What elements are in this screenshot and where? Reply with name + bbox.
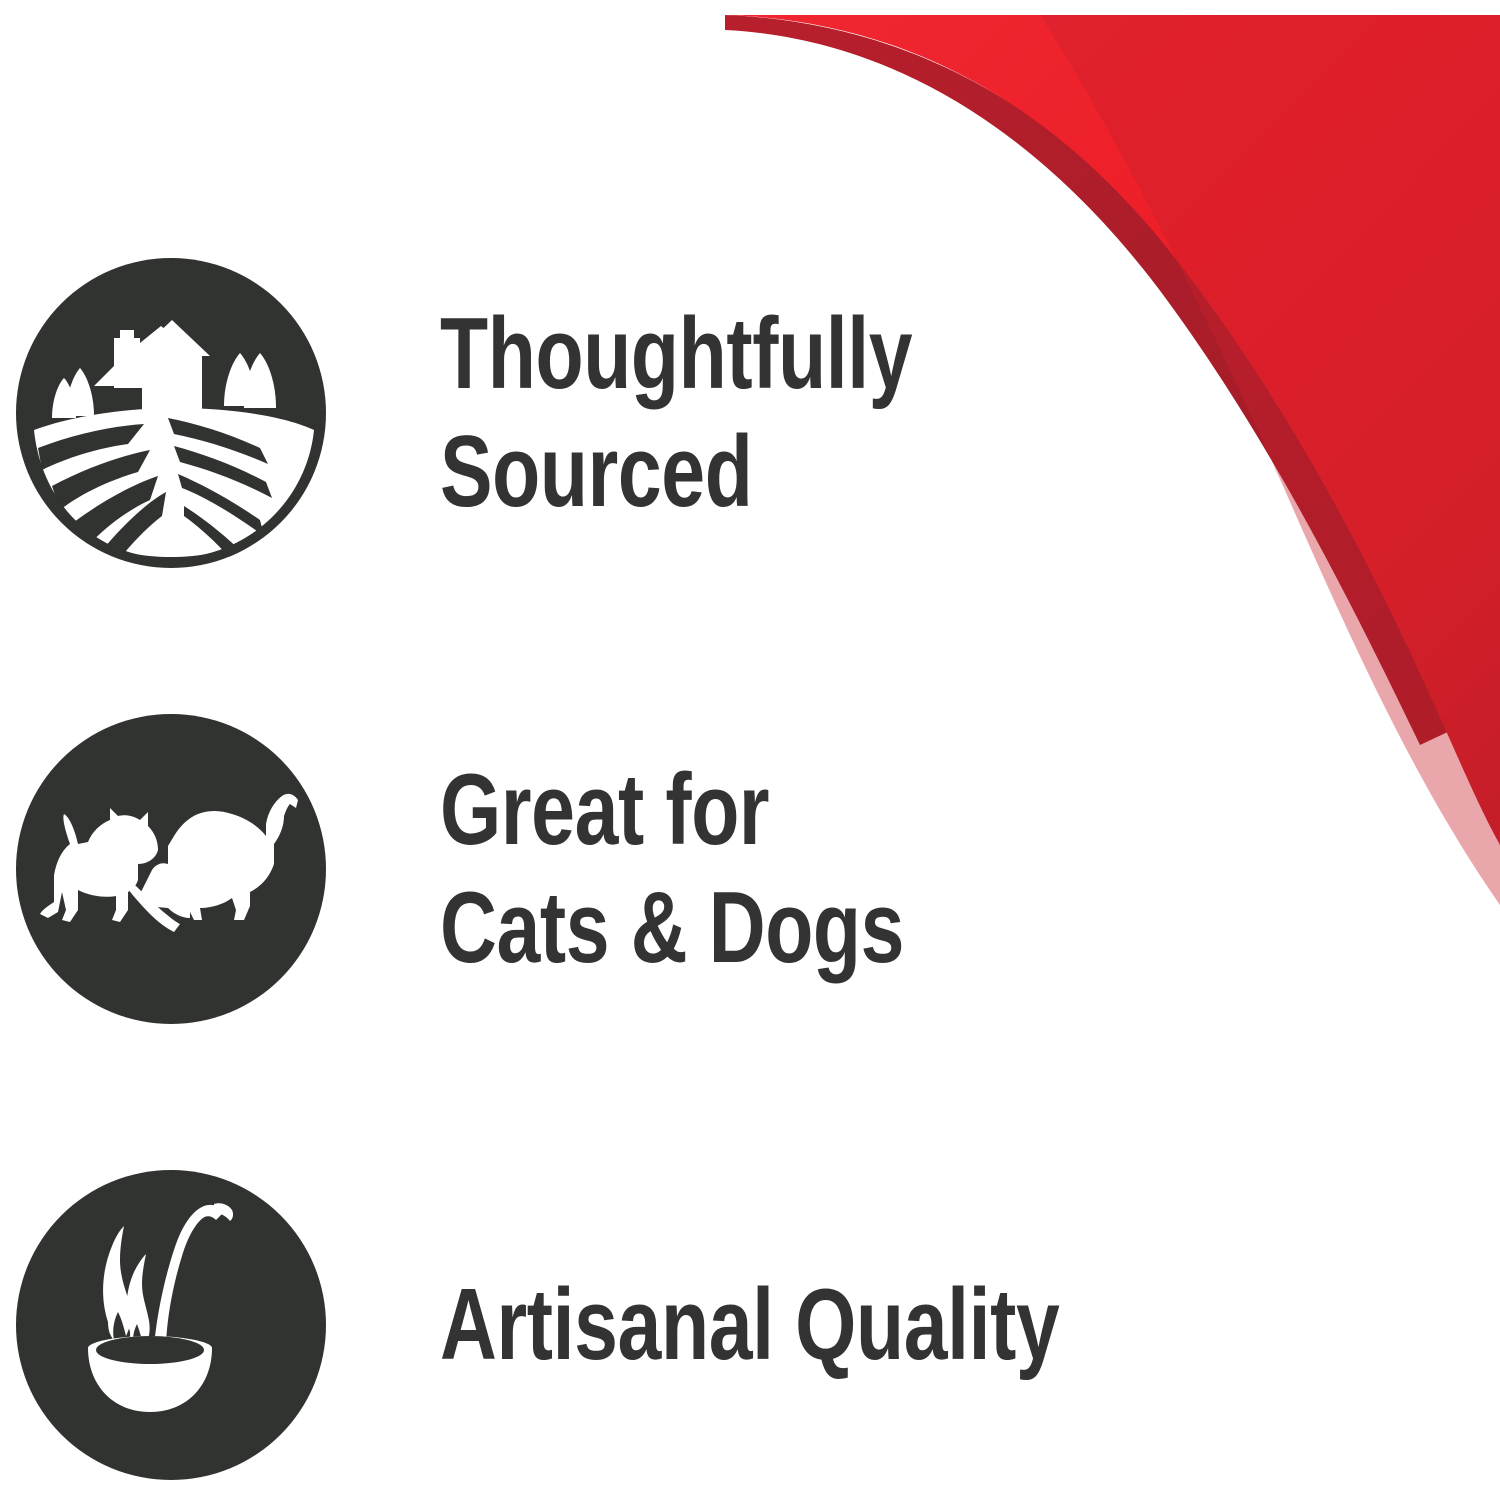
feature-label-line-1: Great for: [440, 754, 769, 866]
feature-label-line-2: Sourced: [440, 416, 752, 528]
cat-and-dog-icon: [16, 714, 326, 1024]
feature-label: Great forCats & Dogs: [440, 751, 1267, 987]
feature-label-line-1: Artisanal Quality: [440, 1269, 1059, 1381]
feature-label: ThoughtfullySourced: [440, 295, 1267, 531]
feature-label-line-1: Thoughtfully: [440, 298, 912, 410]
feature-row-thoughtfully-sourced: ThoughtfullySourced: [0, 258, 1500, 568]
farm-field-icon: [16, 258, 326, 568]
feature-row-cats-and-dogs: Great forCats & Dogs: [0, 714, 1500, 1024]
steaming-ladle-icon: [16, 1170, 326, 1480]
feature-label: Artisanal Quality: [440, 1266, 1267, 1384]
benefit-callout-graphic: ThoughtfullySourced Great forCats & Dogs: [0, 0, 1500, 1500]
feature-label-line-2: Cats & Dogs: [440, 872, 904, 984]
feature-row-artisanal-quality: Artisanal Quality: [0, 1170, 1500, 1480]
